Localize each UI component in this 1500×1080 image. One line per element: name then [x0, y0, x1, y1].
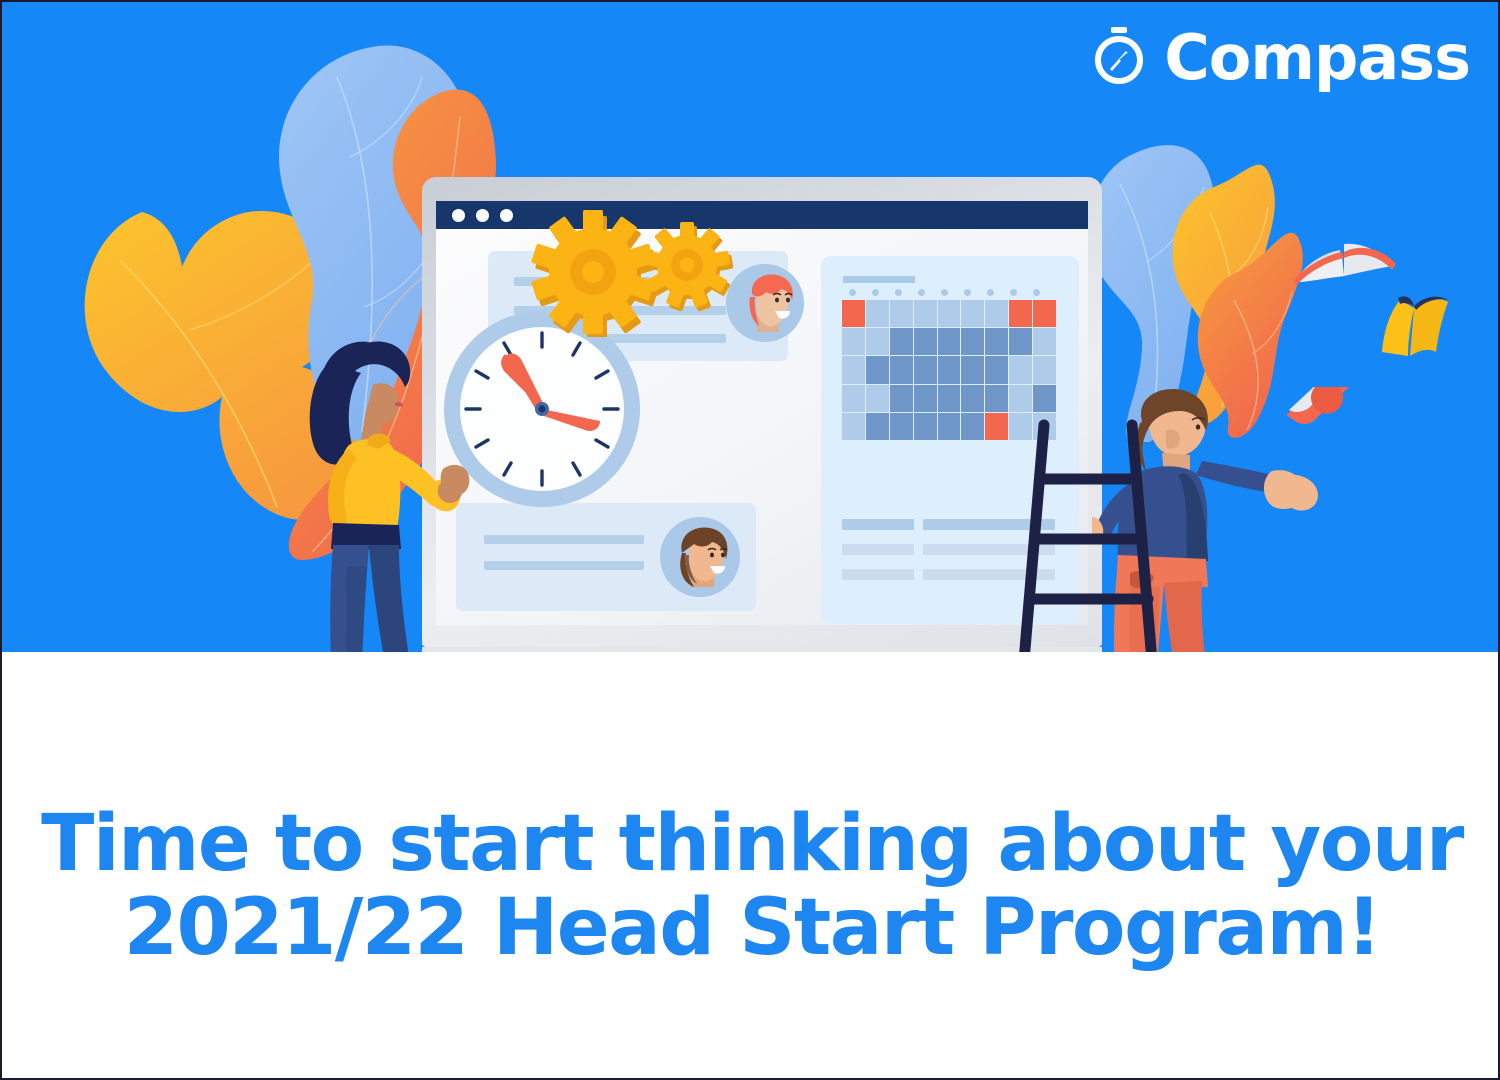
calendar-cell[interactable]: [866, 328, 889, 355]
calendar-cell[interactable]: [985, 385, 1008, 412]
gear-small: [641, 219, 733, 311]
calendar-cell[interactable]: [1033, 356, 1056, 383]
compass-stopwatch-icon: [1088, 24, 1150, 91]
calendar-cell[interactable]: [938, 328, 961, 355]
calendar-cell[interactable]: [1009, 300, 1032, 327]
card-text-line: [484, 561, 644, 570]
person-woman-at-clock: [287, 327, 477, 652]
calendar-cell[interactable]: [842, 413, 865, 440]
calendar-cell[interactable]: [890, 300, 913, 327]
calendar-cell[interactable]: [890, 413, 913, 440]
calendar-header-dot: [964, 289, 971, 296]
calendar-cell[interactable]: [1033, 385, 1056, 412]
profile-card-2[interactable]: [456, 503, 756, 611]
calendar-cell[interactable]: [914, 356, 937, 383]
calendar-cell[interactable]: [961, 413, 984, 440]
calendar-cell[interactable]: [890, 328, 913, 355]
calendar-cell[interactable]: [890, 385, 913, 412]
calendar-cell[interactable]: [866, 300, 889, 327]
calendar-cell[interactable]: [985, 300, 1008, 327]
calendar-cell[interactable]: [1009, 385, 1032, 412]
calendar-cell[interactable]: [1033, 300, 1056, 327]
brand-wordmark: Compass: [1164, 27, 1470, 89]
desktop-monitor: [422, 177, 1102, 652]
calendar-cell[interactable]: [961, 356, 984, 383]
calendar-header-dot: [941, 289, 948, 296]
headline-line-2: 2021/22 Head Start Program!: [2, 886, 1500, 970]
calendar-cell[interactable]: [938, 385, 961, 412]
calendar-cell[interactable]: [842, 328, 865, 355]
calendar-cell[interactable]: [914, 413, 937, 440]
window-dot-close[interactable]: [452, 209, 465, 222]
monitor-screen: [436, 201, 1088, 625]
flying-book-yellow: [1380, 290, 1450, 362]
gear-large: [528, 207, 658, 337]
calendar-header-dot: [918, 289, 925, 296]
headline-line-1: Time to start thinking about your: [41, 799, 1463, 889]
list-cell: [842, 519, 914, 530]
calendar-cell[interactable]: [914, 300, 937, 327]
calendar-cell[interactable]: [866, 385, 889, 412]
calendar-cell[interactable]: [842, 356, 865, 383]
calendar-cell[interactable]: [842, 385, 865, 412]
calendar-cell[interactable]: [985, 356, 1008, 383]
calendar-header-dot: [849, 289, 856, 296]
calendar-cell[interactable]: [961, 328, 984, 355]
calendar-header-dot: [987, 289, 994, 296]
list-cell: [842, 569, 914, 580]
calendar-cell[interactable]: [890, 356, 913, 383]
calendar-cell[interactable]: [985, 413, 1008, 440]
calendar-cell[interactable]: [914, 328, 937, 355]
brand-logo[interactable]: Compass: [1088, 24, 1470, 91]
card-text-line: [484, 535, 644, 544]
list-cell: [842, 544, 914, 555]
calendar-cell[interactable]: [914, 385, 937, 412]
calendar-cell[interactable]: [961, 300, 984, 327]
calendar-cell[interactable]: [1009, 356, 1032, 383]
calendar-cell[interactable]: [866, 413, 889, 440]
window-dot-minimize[interactable]: [476, 209, 489, 222]
monitor-neck: [422, 647, 1102, 652]
calendar-cell[interactable]: [866, 356, 889, 383]
calendar-header-dot: [1010, 289, 1017, 296]
avatar-red-hair: [726, 264, 804, 342]
page-title: Time to start thinking about your 2021/2…: [2, 802, 1500, 970]
calendar-title-bar: [843, 276, 915, 283]
calendar-cell[interactable]: [842, 300, 865, 327]
calendar-cell[interactable]: [961, 385, 984, 412]
calendar-header-dot: [872, 289, 879, 296]
calendar-cell[interactable]: [938, 300, 961, 327]
avatar-brown-hair: [660, 517, 740, 597]
calendar-header-dot: [1033, 289, 1040, 296]
calendar-cell[interactable]: [938, 413, 961, 440]
calendar-header-dot: [895, 289, 902, 296]
window-dot-maximize[interactable]: [500, 209, 513, 222]
calendar-cell[interactable]: [985, 328, 1008, 355]
marketing-poster: Compass: [0, 0, 1500, 1080]
calendar-cell[interactable]: [1009, 328, 1032, 355]
hero-band: Compass: [2, 2, 1500, 652]
step-ladder: [1012, 417, 1212, 652]
calendar-cell[interactable]: [938, 356, 961, 383]
calendar-cell[interactable]: [1033, 328, 1056, 355]
